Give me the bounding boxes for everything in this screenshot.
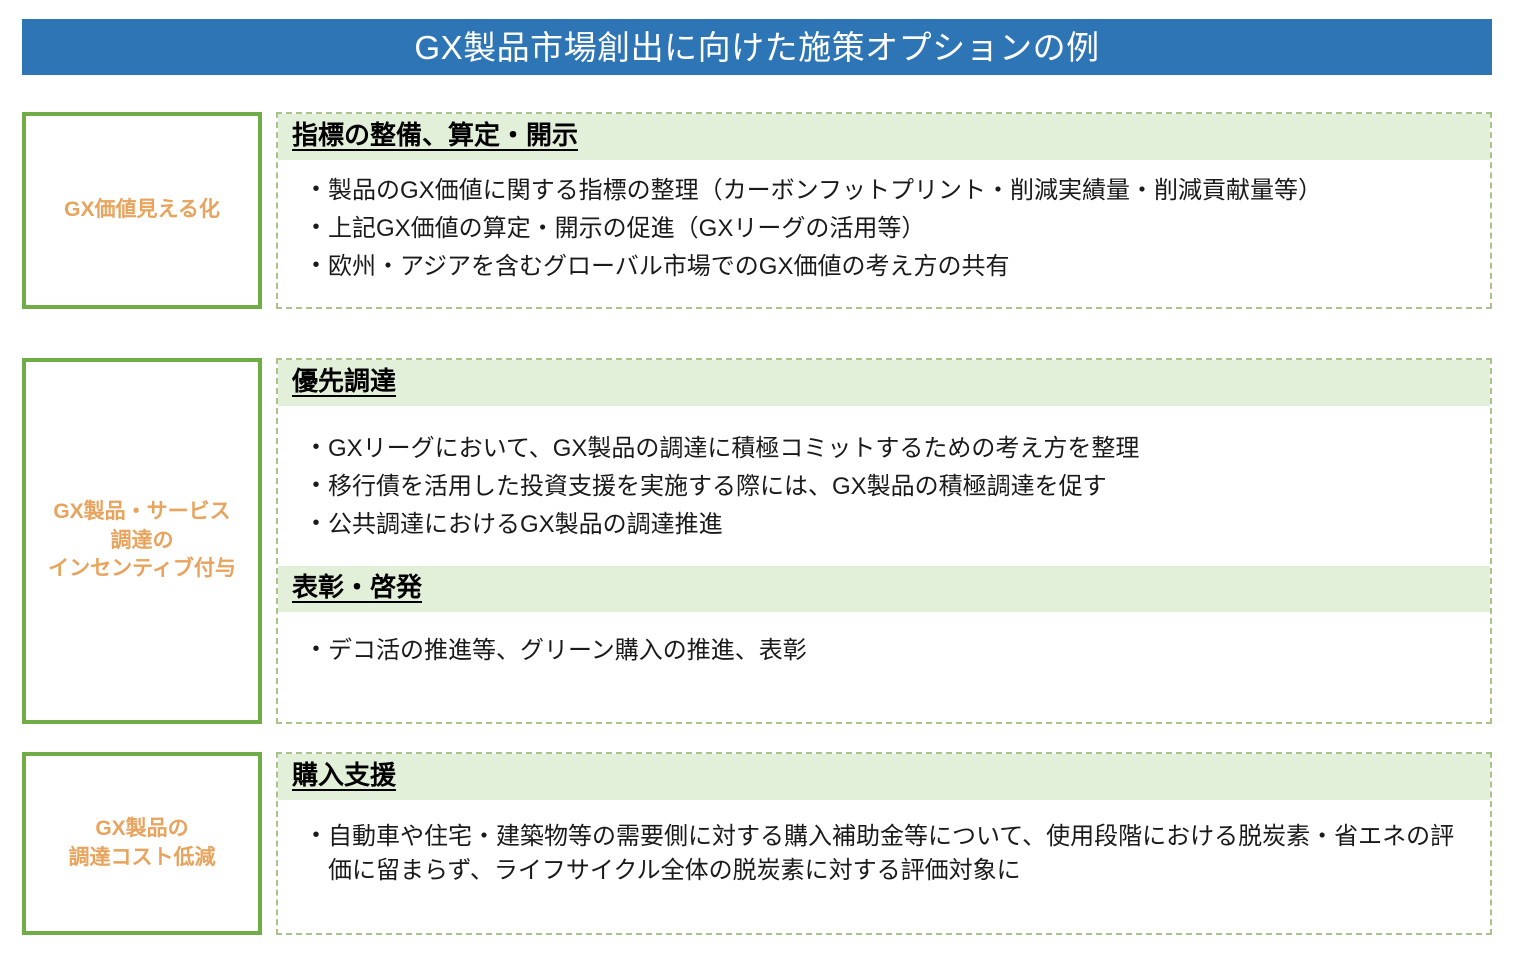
- group-heading-text-2-1: 優先調達: [292, 366, 396, 397]
- bullet-list-1-1: • 製品のGX価値に関する指標の整理（カーボンフットプリント・削減実績量・削減貢…: [278, 160, 1490, 294]
- category-label-3: GX製品の 調達コスト低減: [63, 815, 222, 873]
- bullet-list-3-1: • 自動車や住宅・建築物等の需要側に対する購入補助金等について、使用段階における…: [278, 800, 1490, 898]
- bullet-item: • 製品のGX価値に関する指標の整理（カーボンフットプリント・削減実績量・削減貢…: [304, 174, 1474, 208]
- content-row-2: GX製品・サービス 調達の インセンティブ付与 優先調達 • GXリーグにおいて…: [22, 358, 1492, 724]
- bullet-item: • 自動車や住宅・建築物等の需要側に対する購入補助金等について、使用段階における…: [304, 820, 1474, 888]
- category-box-2: GX製品・サービス 調達の インセンティブ付与: [22, 358, 262, 724]
- group-heading-band-3-1: 購入支援: [278, 754, 1490, 800]
- bullet-text: 公共調達におけるGX製品の調達推進: [328, 508, 1474, 542]
- group-heading-text-2-2: 表彰・啓発: [292, 572, 422, 603]
- detail-panel-1: 指標の整備、算定・開示 • 製品のGX価値に関する指標の整理（カーボンフットプリ…: [276, 112, 1492, 309]
- bullet-item: • 上記GX価値の算定・開示の促進（GXリーグの活用等）: [304, 212, 1474, 246]
- bullet-list-2-2: • デコ活の推進等、グリーン購入の推進、表彰: [278, 612, 1490, 678]
- group-heading-band-2-1: 優先調達: [278, 360, 1490, 406]
- category-box-3: GX製品の 調達コスト低減: [22, 752, 262, 935]
- bullet-item: • 公共調達におけるGX製品の調達推進: [304, 508, 1474, 542]
- bullet-text: デコ活の推進等、グリーン購入の推進、表彰: [328, 634, 1474, 668]
- detail-panel-2: 優先調達 • GXリーグにおいて、GX製品の調達に積極コミットするための考え方を…: [276, 358, 1492, 724]
- bullet-marker-icon: •: [304, 470, 328, 501]
- slide-title-bar: GX製品市場創出に向けた施策オプションの例: [22, 19, 1492, 75]
- content-row-1: GX価値見える化 指標の整備、算定・開示 • 製品のGX価値に関する指標の整理（…: [22, 112, 1492, 309]
- bullet-marker-icon: •: [304, 212, 328, 243]
- bullet-item: • 移行債を活用した投資支援を実施する際には、GX製品の積極調達を促す: [304, 470, 1474, 504]
- bullet-item: • GXリーグにおいて、GX製品の調達に積極コミットするための考え方を整理: [304, 432, 1474, 466]
- group-heading-band-2-2: 表彰・啓発: [278, 566, 1490, 612]
- bullet-text: 移行債を活用した投資支援を実施する際には、GX製品の積極調達を促す: [328, 470, 1474, 504]
- bullet-marker-icon: •: [304, 508, 328, 539]
- bullet-text: 欧州・アジアを含むグローバル市場でのGX価値の考え方の共有: [328, 250, 1474, 284]
- bullet-marker-icon: •: [304, 250, 328, 281]
- category-label-2: GX製品・サービス 調達の インセンティブ付与: [42, 498, 242, 585]
- group-heading-text-1-1: 指標の整備、算定・開示: [292, 120, 578, 151]
- bullet-text: 上記GX価値の算定・開示の促進（GXリーグの活用等）: [328, 212, 1474, 246]
- bullet-text: 自動車や住宅・建築物等の需要側に対する購入補助金等について、使用段階における脱炭…: [328, 820, 1474, 888]
- slide-root: GX製品市場創出に向けた施策オプションの例 GX価値見える化 指標の整備、算定・…: [0, 0, 1536, 971]
- detail-panel-3: 購入支援 • 自動車や住宅・建築物等の需要側に対する購入補助金等について、使用段…: [276, 752, 1492, 935]
- bullet-marker-icon: •: [304, 634, 328, 665]
- category-label-1: GX価値見える化: [58, 196, 226, 225]
- bullet-item: • 欧州・アジアを含むグローバル市場でのGX価値の考え方の共有: [304, 250, 1474, 284]
- bullet-marker-icon: •: [304, 820, 328, 851]
- bullet-marker-icon: •: [304, 432, 328, 463]
- category-box-1: GX価値見える化: [22, 112, 262, 309]
- group-heading-band-1-1: 指標の整備、算定・開示: [278, 114, 1490, 160]
- group-heading-text-3-1: 購入支援: [292, 760, 396, 791]
- page-title: GX製品市場創出に向けた施策オプションの例: [414, 31, 1099, 64]
- bullet-item: • デコ活の推進等、グリーン購入の推進、表彰: [304, 634, 1474, 668]
- bullet-list-2-1: • GXリーグにおいて、GX製品の調達に積極コミットするための考え方を整理 • …: [278, 406, 1490, 552]
- bullet-text: 製品のGX価値に関する指標の整理（カーボンフットプリント・削減実績量・削減貢献量…: [328, 174, 1474, 208]
- bullet-text: GXリーグにおいて、GX製品の調達に積極コミットするための考え方を整理: [328, 432, 1474, 466]
- content-row-3: GX製品の 調達コスト低減 購入支援 • 自動車や住宅・建築物等の需要側に対する…: [22, 752, 1492, 935]
- bullet-marker-icon: •: [304, 174, 328, 205]
